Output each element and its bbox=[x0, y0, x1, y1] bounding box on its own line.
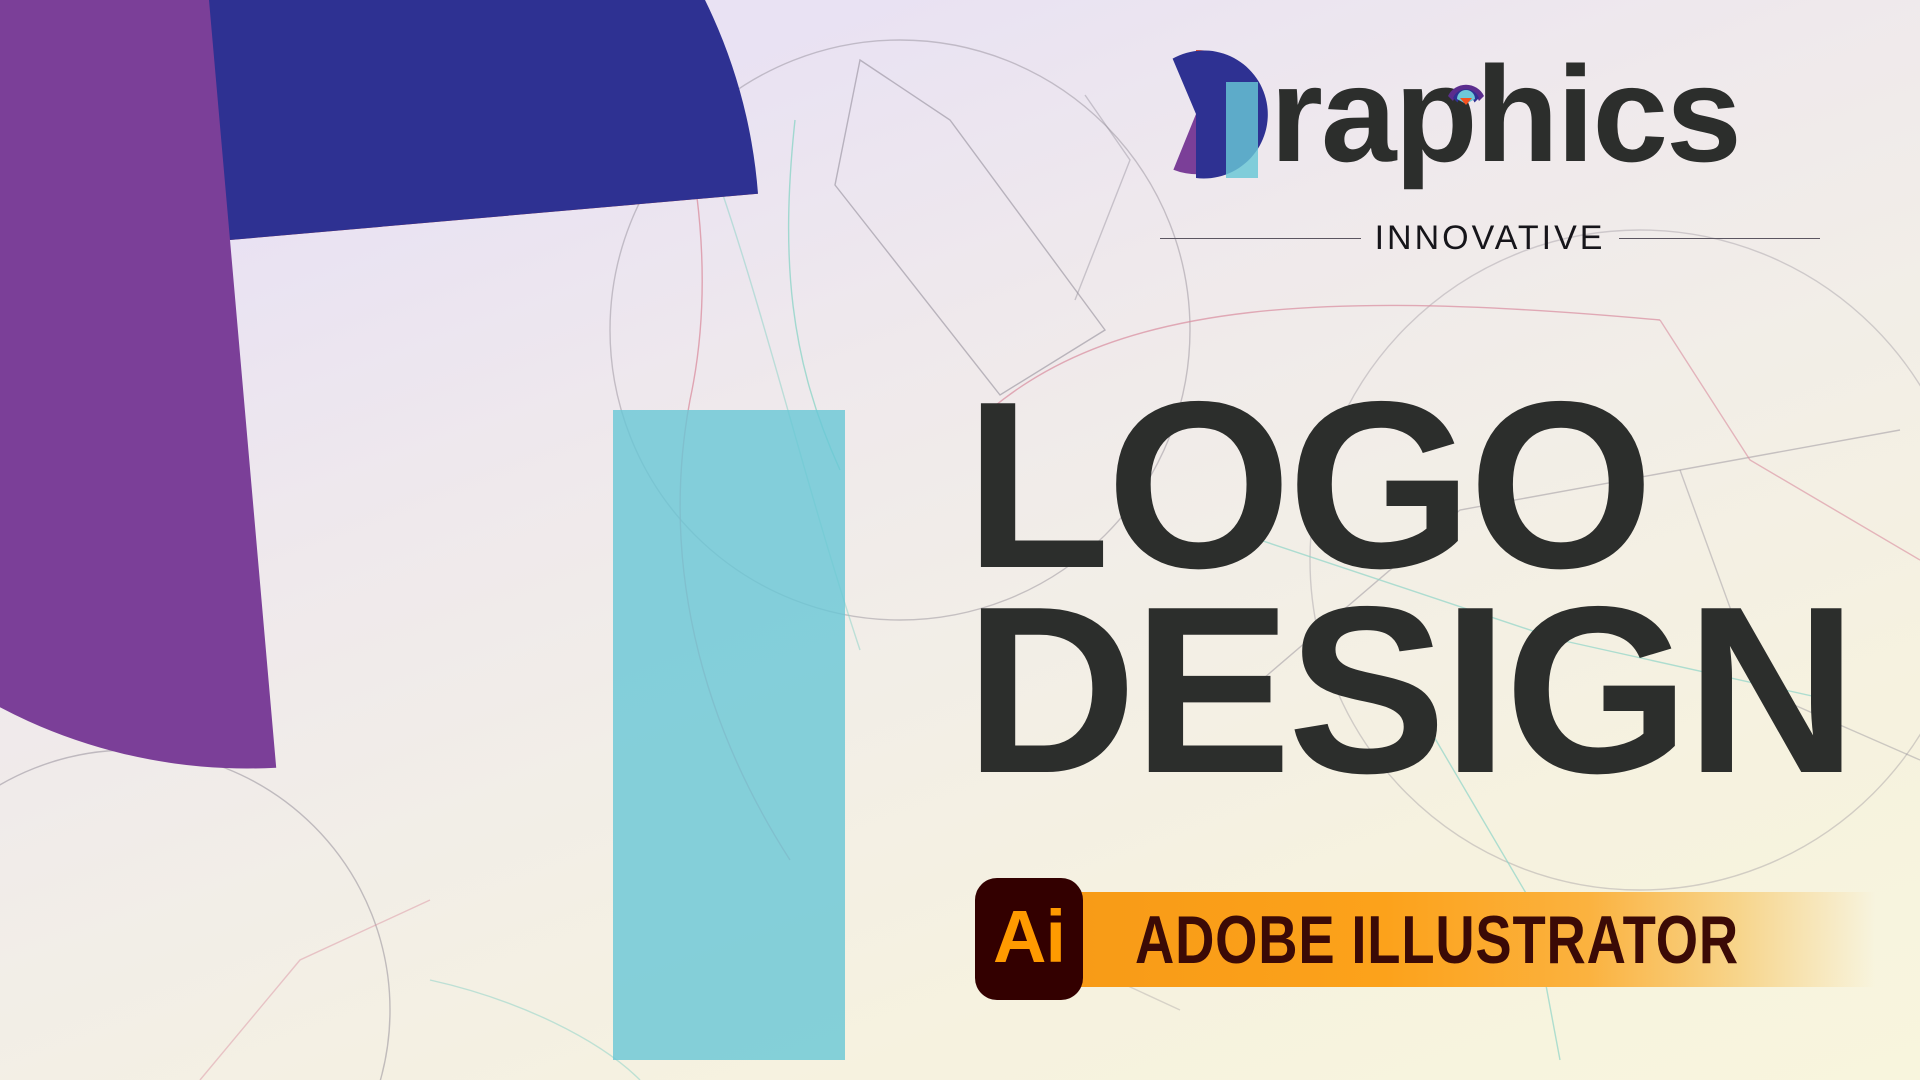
headline-line-2: DESIGN bbox=[965, 580, 1905, 801]
brand-logo: raphics bbox=[1130, 30, 1890, 200]
brand-wordmark: raphics bbox=[1270, 40, 1740, 188]
adobe-illustrator-glyph: Ai bbox=[993, 900, 1065, 974]
tagline-rule-right bbox=[1619, 238, 1820, 239]
headline-block: LOGO DESIGN bbox=[965, 375, 1905, 802]
software-badge-row: Ai ADOBE ILLUSTRATOR bbox=[975, 878, 1875, 1000]
tagline-text: INNOVATIVE bbox=[1375, 219, 1606, 258]
teal-accent-rectangle bbox=[613, 410, 845, 1060]
tagline-row: INNOVATIVE bbox=[1160, 215, 1820, 261]
tagline-rule-left bbox=[1160, 238, 1361, 239]
software-label: ADOBE ILLUSTRATOR bbox=[1135, 898, 1739, 982]
poster-canvas: raphics INNOVATIVE LOGO DESIGN Ai ADOBE … bbox=[0, 0, 1920, 1080]
chevron-dot-icon bbox=[1446, 74, 1486, 106]
quadrant-pie-mark-icon bbox=[1130, 48, 1278, 196]
adobe-illustrator-icon: Ai bbox=[975, 878, 1083, 1000]
